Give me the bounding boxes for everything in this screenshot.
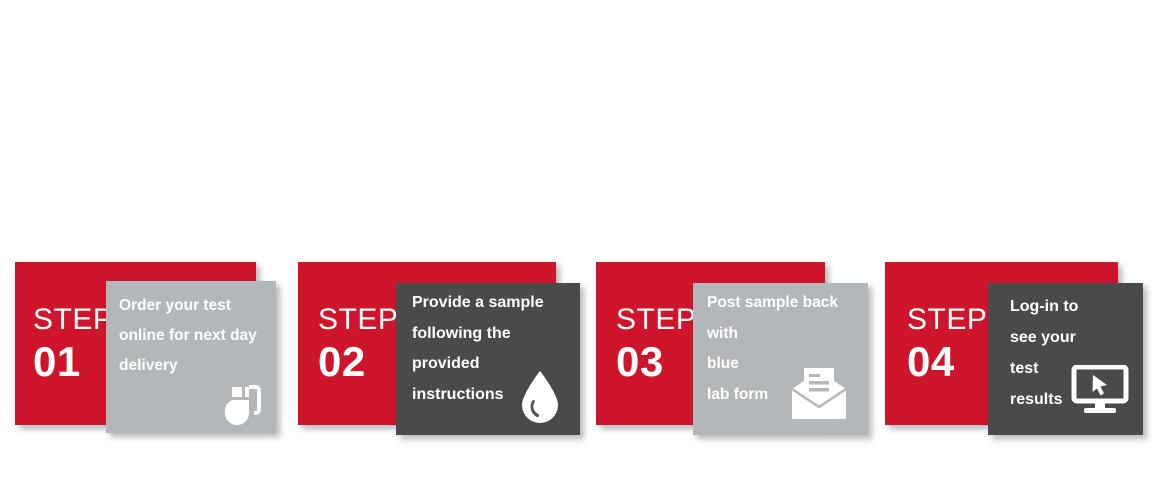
computer-mouse-icon bbox=[216, 381, 268, 431]
step-text-03: Post sample back with blue lab form bbox=[707, 288, 868, 410]
step-content-panel-02: Provide a sample following the provided … bbox=[396, 283, 580, 435]
step-content-panel-04: Log-in to see your test results bbox=[988, 283, 1143, 435]
step-text-01: Order your test online for next day deli… bbox=[119, 291, 276, 381]
step-text-04: Log-in to see your test results bbox=[1010, 291, 1130, 415]
step-content-panel-03: Post sample back with blue lab form bbox=[693, 283, 868, 435]
step-process-graphic: STEP 01 Order your test online for next … bbox=[0, 0, 1170, 498]
step-text-02: Provide a sample following the provided … bbox=[412, 288, 580, 410]
step-content-panel-01: Order your test online for next day deli… bbox=[106, 281, 276, 433]
